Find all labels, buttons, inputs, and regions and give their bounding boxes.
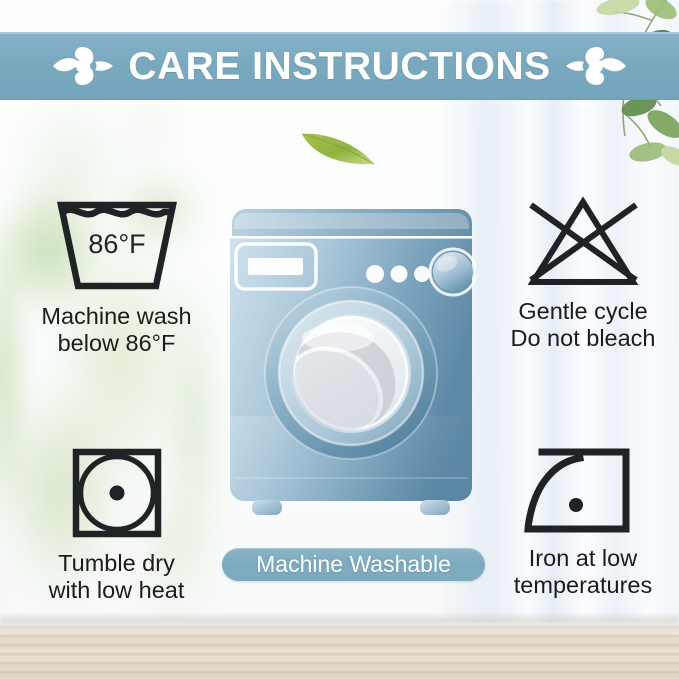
wash-temperature-text: 86°F bbox=[88, 229, 145, 259]
caption-line-2: below 86°F bbox=[14, 330, 219, 357]
do-not-bleach-triangle-icon bbox=[520, 192, 646, 292]
wash-tub-icon-wrap: 86°F bbox=[14, 196, 219, 296]
caption-line-1: Machine wash bbox=[14, 303, 219, 330]
caption-line-1: Iron at low bbox=[487, 545, 679, 572]
care-symbol-iron-low: Iron at low temperatures bbox=[487, 443, 679, 599]
care-symbol-machine-wash: 86°F Machine wash below 86°F bbox=[14, 196, 219, 357]
wood-surface bbox=[0, 623, 679, 679]
caption-line-1: Gentle cycle bbox=[487, 298, 679, 325]
washing-machine-illustration bbox=[226, 206, 476, 536]
machine-feet-icon bbox=[252, 500, 450, 515]
status-badge: Machine Washable bbox=[222, 548, 485, 581]
iron-low-temperature-icon-wrap bbox=[487, 443, 679, 539]
status-badge-label: Machine Washable bbox=[256, 553, 451, 576]
fleur-de-lis-ornament-icon bbox=[52, 43, 114, 89]
caption-line-2: with low heat bbox=[14, 577, 219, 604]
care-symbol-caption: Machine wash below 86°F bbox=[14, 303, 219, 357]
care-symbol-tumble-dry: Tumble dry with low heat bbox=[14, 443, 219, 604]
tumble-dry-low-icon-wrap bbox=[14, 443, 219, 543]
indicator-lights-icon bbox=[366, 265, 430, 283]
care-symbol-do-not-bleach: Gentle cycle Do not bleach bbox=[487, 192, 679, 352]
banner: CARE INSTRUCTIONS bbox=[0, 32, 679, 100]
page-title: CARE INSTRUCTIONS bbox=[128, 47, 550, 86]
caption-line-2: temperatures bbox=[487, 572, 679, 599]
care-symbol-caption: Gentle cycle Do not bleach bbox=[487, 298, 679, 352]
care-symbol-caption: Iron at low temperatures bbox=[487, 545, 679, 599]
caption-line-2: Do not bleach bbox=[487, 325, 679, 352]
iron-low-temperature-icon bbox=[520, 443, 646, 539]
drum-door-icon bbox=[265, 287, 437, 459]
program-knob-icon bbox=[430, 249, 476, 295]
tumble-dry-low-icon bbox=[67, 443, 167, 543]
do-not-bleach-triangle-icon-wrap bbox=[487, 192, 679, 292]
floating-leaf-icon bbox=[296, 124, 378, 168]
care-symbol-caption: Tumble dry with low heat bbox=[14, 550, 219, 604]
fleur-de-lis-ornament-icon bbox=[565, 43, 627, 89]
care-instructions-infographic: CARE INSTRUCTIONS 86°F Machine wash belo… bbox=[0, 0, 679, 679]
caption-line-1: Tumble dry bbox=[14, 550, 219, 577]
wash-tub-icon: 86°F bbox=[54, 196, 180, 296]
